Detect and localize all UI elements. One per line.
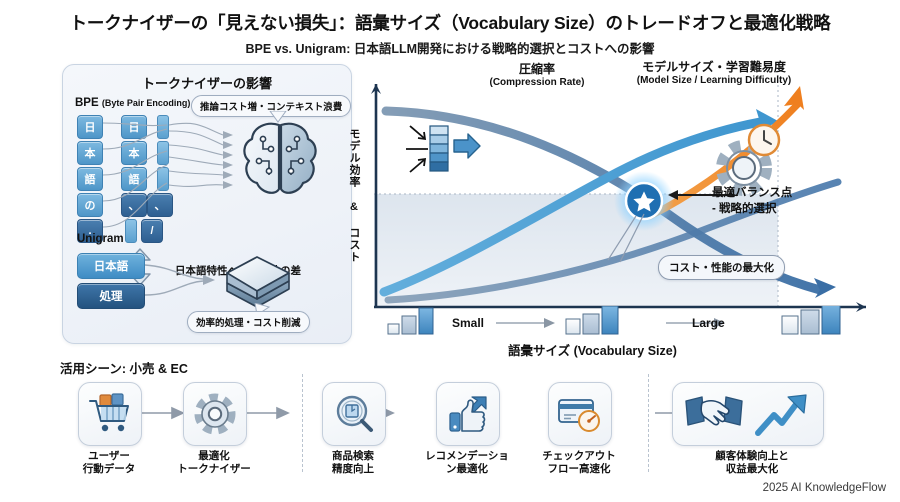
flow-label-line2: 収益最大化 [692,463,812,476]
cost-performance-callout: コスト・性能の最大化 [658,255,785,280]
block-cluster-small [388,308,433,334]
flow-node-user-behavior-data[interactable] [78,382,142,446]
flow-label-line1: ユーザー [57,450,161,463]
x-tick-large: Large [692,316,725,330]
handshake-icon [686,397,742,425]
page-subtitle: BPE vs. Unigram: 日本語LLM開発における戦略的選択とコストへの… [0,38,900,57]
shopping-cart-icon [88,393,132,435]
chart-x-axis-label: 語彙サイズ (Vocabulary Size) [508,340,677,359]
compression-icon [406,126,480,172]
compression-rate-jp: 圧縮率 [452,62,622,77]
model-size-en: (Model Size / Learning Difficulty) [604,75,824,88]
growth-arrow-icon [758,395,806,433]
compression-rate-en: (Compression Rate) [452,77,622,90]
block-cluster-medium [566,306,618,334]
optimal-balance-star-marker[interactable] [614,171,674,231]
flow-node-product-search[interactable] [322,382,386,446]
flow-label-line1: 商品検索 [301,450,405,463]
flow-label-line1: チェックアウト [527,450,631,463]
flow-label-line1: 最適化 [162,450,266,463]
tradeoff-chart: 圧縮率 (Compression Rate) モデルサイズ・学習難易度 (Mod… [368,64,886,346]
magnifier-box-icon [333,393,375,435]
flow-node-cx-revenue[interactable] [672,382,824,446]
balance-point-line1: 最適バランス点 [712,186,792,202]
flow-node-checkout-flow[interactable] [548,382,612,446]
unigram-to-stack-connectors [63,65,351,343]
thumbs-up-icon [446,393,490,435]
balance-point-line2: - 戦略的選択 [712,202,792,218]
tokenizer-impact-panel: トークナイザーの影響 BPE (Byte Pair Encoding) 日 本 … [62,64,352,344]
balance-point-annotation: 最適バランス点 - 戦略的選択 [712,186,792,217]
flow-label-line2: 精度向上 [301,463,405,476]
flow-node-label: 商品検索 精度向上 [301,450,405,476]
credit-card-speed-icon [557,394,603,434]
stack-callout: 効率的処理・コスト削減 [187,311,310,333]
model-size-jp: モデルサイズ・学習難易度 [604,60,824,75]
data-stack-icon [221,251,295,307]
gear-clock-icon [722,125,779,190]
flow-node-recommendation[interactable] [436,382,500,446]
handshake-growth-icon [680,387,816,441]
chart-svg [368,64,886,346]
infographic-root: トークナイザーの「見えない損失」：語彙サイズ（Vocabulary Size）の… [0,0,900,502]
flow-node-label: ユーザー 行動データ [57,450,161,476]
flow-node-label: チェックアウト フロー高速化 [527,450,631,476]
flow-label-line1: レコメンデーショ [415,450,519,463]
flow-node-label: 顧客体験向上と 収益最大化 [692,450,812,476]
flow-label-line1: 顧客体験向上と [692,450,812,463]
model-size-annotation: モデルサイズ・学習難易度 (Model Size / Learning Diff… [604,60,824,88]
compression-rate-annotation: 圧縮率 (Compression Rate) [452,62,622,90]
flow-node-label: レコメンデーショ ン最適化 [415,450,519,476]
x-tick-small: Small [452,316,484,330]
flow-node-label: 最適化 トークナイザー [162,450,266,476]
flow-label-line2: 行動データ [57,463,161,476]
page-title: トークナイザーの「見えない損失」：語彙サイズ（Vocabulary Size）の… [0,10,900,35]
flow-label-line2: ン最適化 [415,463,519,476]
footer-credit: 2025 AI KnowledgeFlow [763,482,886,494]
block-cluster-large [782,306,840,334]
chart-y-axis-label: モデル効率 & コスト [346,128,362,263]
flow-label-line2: フロー高速化 [527,463,631,476]
gear-icon [194,393,236,435]
flow-section-title: 活用シーン: 小売 & EC [60,358,188,377]
flow-node-optimized-tokenizer[interactable] [183,382,247,446]
flow-label-line2: トークナイザー [162,463,266,476]
